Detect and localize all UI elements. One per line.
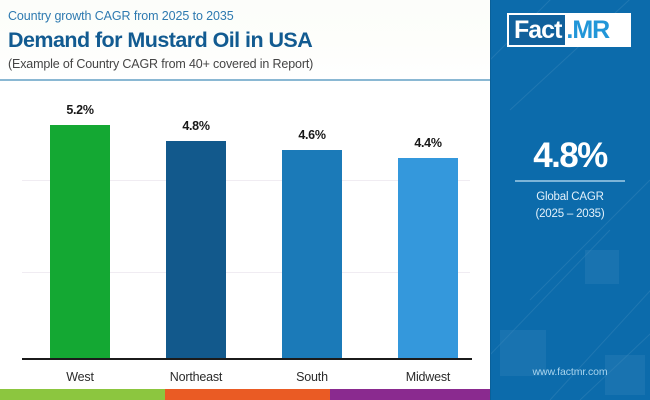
- logo-fact-text: Fact: [509, 15, 565, 45]
- bar-value-label: 5.2%: [22, 103, 138, 117]
- global-cagr-label: Global CAGR: [490, 188, 650, 206]
- bar-group-south: 4.6% South: [254, 82, 370, 358]
- header-divider: [0, 79, 490, 81]
- global-cagr-value: 4.8%: [490, 135, 650, 177]
- website-url[interactable]: www.factmr.com: [490, 366, 650, 378]
- bar-west[interactable]: [50, 125, 110, 358]
- infographic-root: Country growth CAGR from 2025 to 2035 De…: [0, 0, 650, 400]
- accent-green-segment: [0, 389, 165, 400]
- bar-group-midwest: 4.4% Midwest: [370, 82, 486, 358]
- category-label-northeast: Northeast: [138, 370, 254, 384]
- global-cagr-period: (2025 – 2035): [490, 205, 650, 223]
- bar-south[interactable]: [282, 150, 342, 358]
- bar-value-label: 4.8%: [138, 119, 254, 133]
- accent-orange-segment: [165, 389, 330, 400]
- category-label-midwest: Midwest: [370, 370, 486, 384]
- bar-group-northeast: 4.8% Northeast: [138, 82, 254, 358]
- page-title: Demand for Mustard Oil in USA: [8, 27, 490, 53]
- logo-mr-text: .MR: [565, 15, 612, 45]
- bar-midwest[interactable]: [398, 158, 458, 358]
- bar-value-label: 4.6%: [254, 128, 370, 142]
- chart-header: Country growth CAGR from 2025 to 2035 De…: [0, 0, 490, 80]
- bar-group-west: 5.2% West: [22, 82, 138, 358]
- bar-northeast[interactable]: [166, 141, 226, 358]
- x-axis-line: [22, 358, 472, 360]
- chart-area: Country growth CAGR from 2025 to 2035 De…: [0, 0, 490, 400]
- factmr-logo[interactable]: Fact .MR: [507, 13, 631, 47]
- accent-stripe: [0, 389, 490, 400]
- category-label-south: South: [254, 370, 370, 384]
- stat-divider: [515, 180, 625, 182]
- header-subtitle: (Example of Country CAGR from 40+ covere…: [8, 56, 490, 72]
- header-eyebrow: Country growth CAGR from 2025 to 2035: [8, 8, 490, 24]
- category-label-west: West: [22, 370, 138, 384]
- accent-purple-segment: [330, 389, 490, 400]
- bar-chart-plot: 5.2% West 4.8% Northeast 4.6% South 4.4%…: [0, 82, 490, 400]
- brand-panel: Fact .MR 4.8% Global CAGR (2025 – 2035) …: [490, 0, 650, 400]
- bar-value-label: 4.4%: [370, 136, 486, 150]
